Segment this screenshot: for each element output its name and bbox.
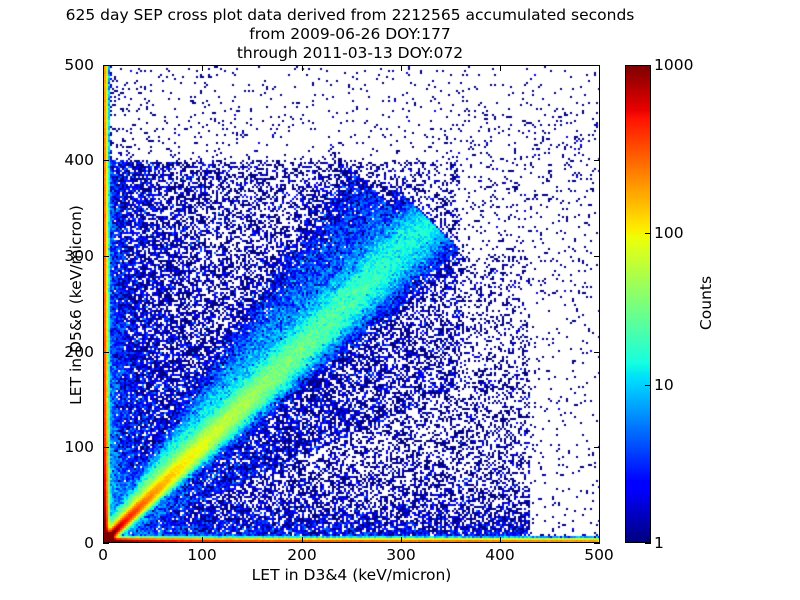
colorbar-tick-label-1: 1 bbox=[654, 536, 664, 552]
x-tick-mark-top-100 bbox=[202, 65, 203, 71]
x-tick-mark-200 bbox=[302, 537, 303, 543]
colorbar-tick-label-10: 10 bbox=[654, 378, 674, 394]
colorbar-tick-mark-1000 bbox=[645, 65, 651, 66]
x-tick-mark-top-400 bbox=[500, 65, 501, 71]
colorbar-gradient bbox=[626, 66, 650, 542]
x-tick-mark-top-300 bbox=[401, 65, 402, 71]
x-axis-title: LET in D3&4 (keV/micron) bbox=[103, 566, 600, 584]
colorbar-tick-label-100: 100 bbox=[654, 226, 684, 242]
y-tick-mark-right-100 bbox=[594, 447, 600, 448]
x-tick-mark-500 bbox=[599, 537, 600, 543]
colorbar-tick-mark-100 bbox=[645, 233, 651, 234]
y-tick-mark-0 bbox=[103, 543, 109, 544]
y-tick-mark-right-200 bbox=[594, 352, 600, 353]
x-tick-mark-0 bbox=[103, 537, 104, 543]
colorbar-tick-mark-10 bbox=[645, 385, 651, 386]
scatter-heatmap-data bbox=[104, 66, 599, 542]
y-tick-mark-right-400 bbox=[594, 160, 600, 161]
x-tick-mark-top-500 bbox=[599, 65, 600, 71]
y-tick-mark-right-300 bbox=[594, 256, 600, 257]
colorbar bbox=[625, 65, 651, 543]
colorbar-tick-label-1000: 1000 bbox=[654, 58, 693, 74]
title-line-2: from 2009-06-26 DOY:177 bbox=[0, 25, 700, 44]
x-tick-label-300: 300 bbox=[371, 548, 431, 564]
colorbar-tick-mark-1 bbox=[645, 543, 651, 544]
y-tick-mark-300 bbox=[103, 256, 109, 257]
y-tick-mark-200 bbox=[103, 352, 109, 353]
x-tick-mark-100 bbox=[202, 537, 203, 543]
x-tick-mark-400 bbox=[500, 537, 501, 543]
y-axis-title: LET in D5&6 (keV/micron) bbox=[67, 66, 85, 544]
x-tick-label-0: 0 bbox=[73, 548, 133, 564]
figure-title: 625 day SEP cross plot data derived from… bbox=[0, 6, 700, 63]
figure-canvas: 625 day SEP cross plot data derived from… bbox=[0, 0, 800, 600]
x-tick-label-100: 100 bbox=[172, 548, 232, 564]
y-tick-mark-right-0 bbox=[594, 543, 600, 544]
plot-axes-area bbox=[103, 65, 600, 543]
x-tick-label-400: 400 bbox=[470, 548, 530, 564]
y-tick-mark-100 bbox=[103, 447, 109, 448]
x-tick-label-500: 500 bbox=[569, 548, 629, 564]
y-tick-mark-400 bbox=[103, 160, 109, 161]
x-tick-label-200: 200 bbox=[272, 548, 332, 564]
x-tick-mark-top-0 bbox=[103, 65, 104, 71]
x-tick-mark-300 bbox=[401, 537, 402, 543]
colorbar-title: Counts bbox=[697, 203, 715, 403]
title-line-3: through 2011-03-13 DOY:072 bbox=[0, 44, 700, 63]
x-tick-mark-top-200 bbox=[302, 65, 303, 71]
title-line-1: 625 day SEP cross plot data derived from… bbox=[0, 6, 700, 25]
